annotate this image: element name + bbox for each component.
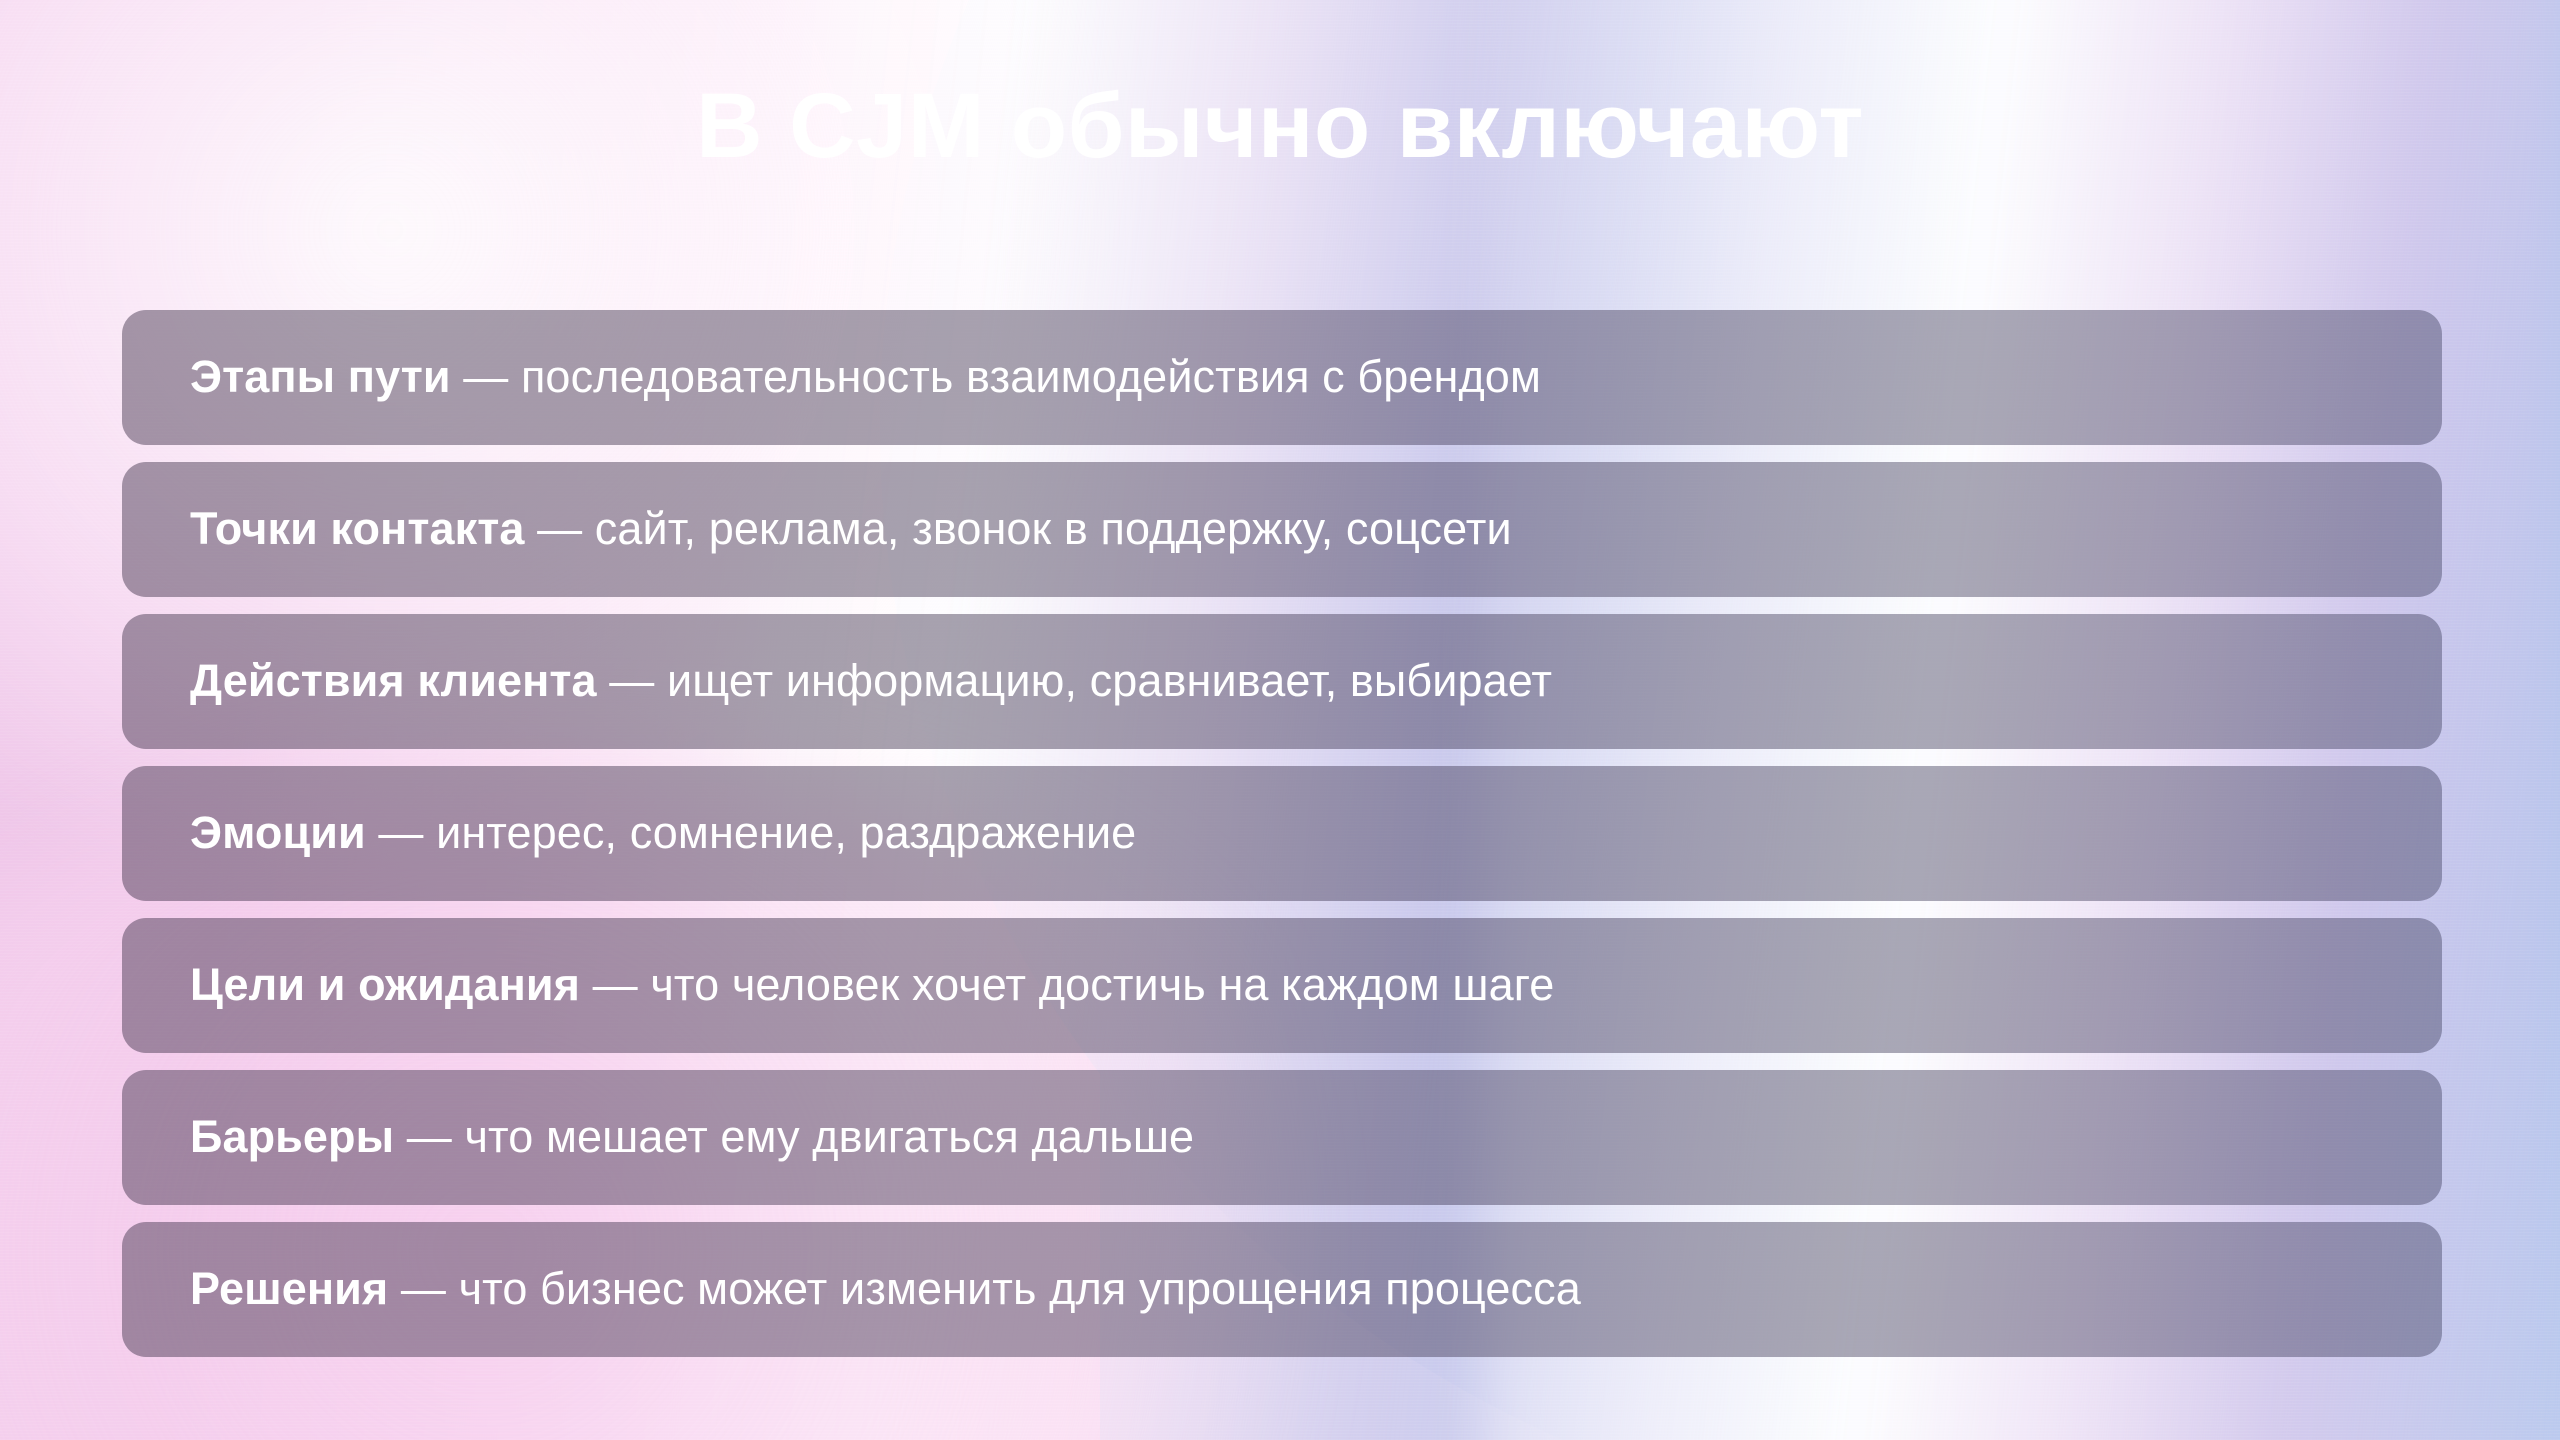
list-item-dash: — bbox=[451, 351, 521, 402]
list-item-lead: Барьеры bbox=[190, 1111, 394, 1162]
item-list: Этапы пути — последовательность взаимоде… bbox=[122, 310, 2442, 1357]
list-item-text: Точки контакта — сайт, реклама, звонок в… bbox=[122, 504, 1552, 554]
list-item-dash: — bbox=[388, 1263, 458, 1314]
list-item-description: что бизнес может изменить для упрощения … bbox=[459, 1263, 1581, 1314]
list-item-lead: Действия клиента bbox=[190, 655, 597, 706]
list-item-text: Цели и ожидания — что человек хочет дост… bbox=[122, 960, 1594, 1010]
list-item-text: Действия клиента — ищет информацию, срав… bbox=[122, 656, 1592, 706]
list-item-dash: — bbox=[366, 807, 436, 858]
slide-content: В CJM обычно включают Этапы пути — после… bbox=[0, 0, 2560, 1440]
list-item-description: сайт, реклама, звонок в поддержку, соцсе… bbox=[595, 503, 1512, 554]
list-item-lead: Решения bbox=[190, 1263, 388, 1314]
list-item-text: Решения — что бизнес может изменить для … bbox=[122, 1264, 1621, 1314]
list-item-dash: — bbox=[524, 503, 594, 554]
list-item-lead: Точки контакта bbox=[190, 503, 524, 554]
slide-canvas: В CJM обычно включают Этапы пути — после… bbox=[0, 0, 2560, 1440]
list-item-lead: Цели и ожидания bbox=[190, 959, 580, 1010]
list-item-description: ищет информацию, сравнивает, выбирает bbox=[667, 655, 1552, 706]
list-item-dash: — bbox=[394, 1111, 464, 1162]
list-item-lead: Эмоции bbox=[190, 807, 366, 858]
list-item-dash: — bbox=[597, 655, 667, 706]
list-item[interactable]: Барьеры — что мешает ему двигаться дальш… bbox=[122, 1070, 2442, 1205]
list-item[interactable]: Решения — что бизнес может изменить для … bbox=[122, 1222, 2442, 1357]
slide-title: В CJM обычно включают bbox=[0, 78, 2560, 175]
list-item-text: Этапы пути — последовательность взаимоде… bbox=[122, 352, 1581, 402]
list-item[interactable]: Эмоции — интерес, сомнение, раздражение bbox=[122, 766, 2442, 901]
list-item-description: интерес, сомнение, раздражение bbox=[436, 807, 1136, 858]
list-item-description: что мешает ему двигаться дальше bbox=[464, 1111, 1194, 1162]
list-item-text: Эмоции — интерес, сомнение, раздражение bbox=[122, 808, 1176, 858]
list-item-dash: — bbox=[580, 959, 650, 1010]
list-item[interactable]: Действия клиента — ищет информацию, срав… bbox=[122, 614, 2442, 749]
list-item[interactable]: Этапы пути — последовательность взаимоде… bbox=[122, 310, 2442, 445]
list-item-lead: Этапы пути bbox=[190, 351, 451, 402]
list-item-description: что человек хочет достичь на каждом шаге bbox=[650, 959, 1554, 1010]
list-item[interactable]: Точки контакта — сайт, реклама, звонок в… bbox=[122, 462, 2442, 597]
list-item-description: последовательность взаимодействия с брен… bbox=[521, 351, 1541, 402]
list-item[interactable]: Цели и ожидания — что человек хочет дост… bbox=[122, 918, 2442, 1053]
list-item-text: Барьеры — что мешает ему двигаться дальш… bbox=[122, 1112, 1234, 1162]
